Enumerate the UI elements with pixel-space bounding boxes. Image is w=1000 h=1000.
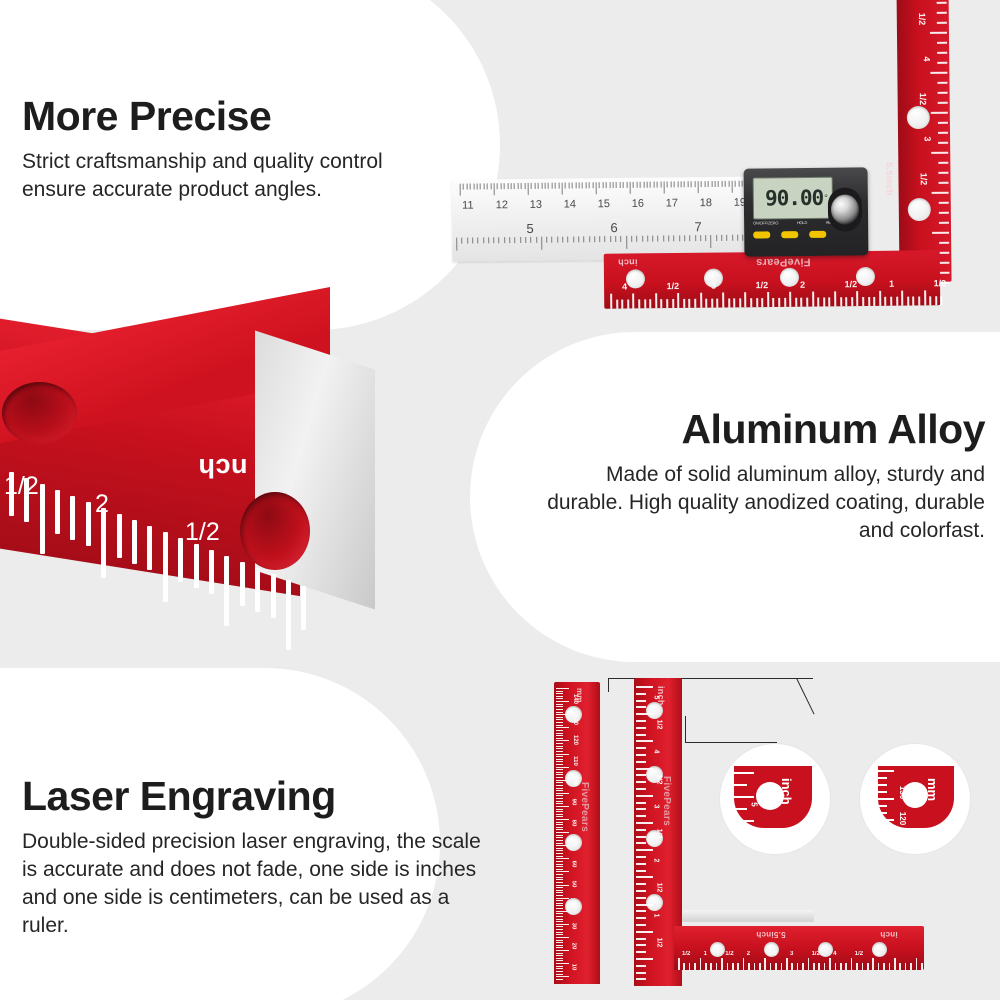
brand-mark: FivePears bbox=[579, 782, 590, 832]
screw-hole bbox=[646, 894, 663, 911]
screw-hole bbox=[856, 267, 875, 286]
brand-mark: FivePears bbox=[661, 776, 672, 826]
body-aluminum-alloy: Made of solid aluminum alloy, sturdy and… bbox=[545, 461, 985, 545]
page-title-aluminum-alloy: Aluminum Alloy bbox=[545, 408, 985, 451]
legend-on-off-zero: ON/OFF/ZERO bbox=[753, 220, 778, 225]
section-laser-engraving: Laser Engraving Double-sided precision l… bbox=[22, 775, 482, 940]
callout-leader-tick bbox=[608, 678, 609, 692]
arm-side-label: 5.5inch bbox=[756, 930, 786, 939]
digital-angle-gauge[interactable]: 90.00 ° ON/OFF/ZERO HOLD ABS bbox=[744, 167, 869, 256]
callout-mm-detail: 130 120 mm bbox=[860, 744, 970, 854]
screw-hole bbox=[710, 942, 725, 957]
hold-button[interactable] bbox=[781, 231, 798, 238]
on-off-zero-button[interactable] bbox=[753, 231, 770, 238]
screw-hole bbox=[780, 268, 799, 287]
callout-leader-diagonal2 bbox=[796, 678, 814, 714]
angle-reading: 90.00 bbox=[765, 187, 823, 209]
section-aluminum-alloy: Aluminum Alloy Made of solid aluminum al… bbox=[545, 408, 985, 545]
steel-ruler: 11121314151617181920 5678 bbox=[452, 176, 783, 261]
section-more-precise: More Precise Strict craftsmanship and qu… bbox=[22, 95, 442, 204]
body-more-precise: Strict craftsmanship and quality control… bbox=[22, 148, 442, 204]
detail-value-120: 120 bbox=[898, 812, 907, 825]
arm-unit-label: inch bbox=[880, 930, 898, 939]
detail-value-inch: 5 bbox=[750, 802, 759, 806]
callout-leader-mid bbox=[685, 742, 777, 743]
inch-square-arm: 5.5inch inch 1/211/221/231/241/25 bbox=[674, 926, 924, 970]
pivot-knob-icon[interactable] bbox=[828, 187, 862, 231]
callout-inch-detail: 5 inch bbox=[720, 744, 830, 854]
screw-hole bbox=[907, 106, 930, 129]
screw-hole bbox=[646, 702, 663, 719]
infographic-stage: 11121314151617181920 5678 5.5inch 1/241/… bbox=[0, 0, 1000, 1000]
screw-hole bbox=[818, 942, 833, 957]
brand-mark: FivePears bbox=[756, 256, 811, 269]
side-label-5-5inch: 5.5inch bbox=[884, 162, 894, 195]
abs-button[interactable] bbox=[809, 231, 826, 238]
arm-label-inch: inch bbox=[618, 257, 638, 267]
legend-hold: HOLD bbox=[797, 220, 807, 225]
aluminum-macro-photo: nch 1/221/2 bbox=[0, 322, 390, 652]
callout-leader-tick2 bbox=[685, 716, 686, 742]
lcd-display: 90.00 ° bbox=[753, 177, 833, 220]
detail-unit-inch: inch bbox=[779, 778, 794, 805]
macro-engraved-scale: 1/221/2 bbox=[0, 322, 330, 652]
page-title-more-precise: More Precise bbox=[22, 95, 442, 138]
body-laser-engraving: Double-sided precision laser engraving, … bbox=[22, 828, 482, 940]
detail-value-130: 130 bbox=[898, 786, 907, 799]
screw-hole bbox=[626, 269, 645, 288]
detail-unit-mm: mm bbox=[925, 778, 940, 801]
gauge-button-row bbox=[753, 231, 853, 239]
top-square-horizontal-arm: FivePears inch 41/231/221/211/2 bbox=[604, 250, 941, 309]
lcd-button-legend: ON/OFF/ZERO HOLD ABS bbox=[753, 220, 833, 226]
steel-insert bbox=[682, 910, 814, 922]
page-title-laser-engraving: Laser Engraving bbox=[22, 775, 482, 818]
product-group-photo: mm FivePears 140130120110100908070605040… bbox=[520, 664, 1000, 1000]
screw-hole bbox=[908, 198, 931, 221]
top-square-vertical-arm: 5.5inch 1/241/231/2 bbox=[896, 0, 951, 282]
